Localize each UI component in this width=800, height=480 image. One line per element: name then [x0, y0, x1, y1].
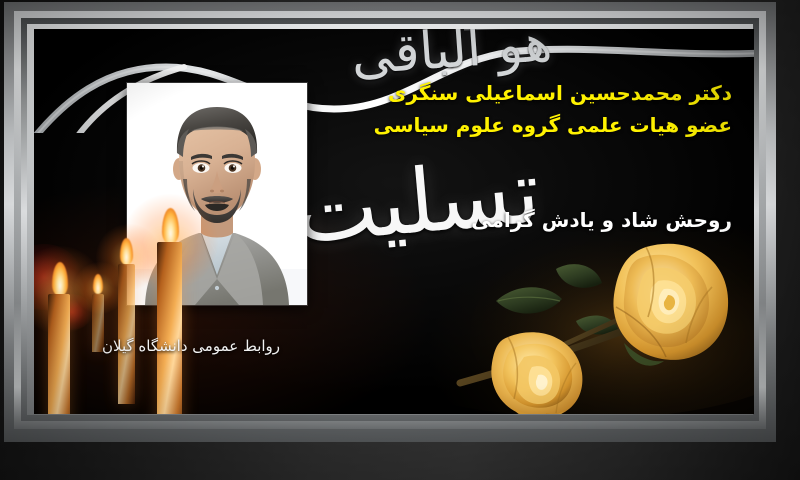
deceased-name: دکتر محمدحسین اسماعیلی سنگری [312, 77, 732, 109]
memorial-phrase: روحش شاد و یادش گرامی [312, 204, 732, 236]
candle-flame-left [52, 262, 68, 296]
roses-illustration [450, 225, 754, 414]
condolence-banner: هو الباقی تسلیت [0, 0, 800, 480]
credit-line: روابط عمومی دانشگاه گیلان [102, 337, 280, 355]
candle-flame-back [93, 274, 103, 294]
deceased-title: عضو هیات علمی گروه علوم سیاسی [312, 109, 732, 141]
candle-flame-mid [120, 238, 133, 265]
banner-canvas: هو الباقی تسلیت [34, 29, 754, 414]
candle-body-left [48, 294, 70, 414]
candle-flame-right [162, 208, 179, 244]
candles-group [34, 190, 200, 414]
candle-body-mid [118, 264, 135, 404]
candle-body-right [157, 242, 182, 414]
text-block: دکتر محمدحسین اسماعیلی سنگری عضو هیات عل… [312, 77, 732, 236]
picture-frame: هو الباقی تسلیت [4, 2, 776, 442]
roses-group [450, 225, 754, 414]
